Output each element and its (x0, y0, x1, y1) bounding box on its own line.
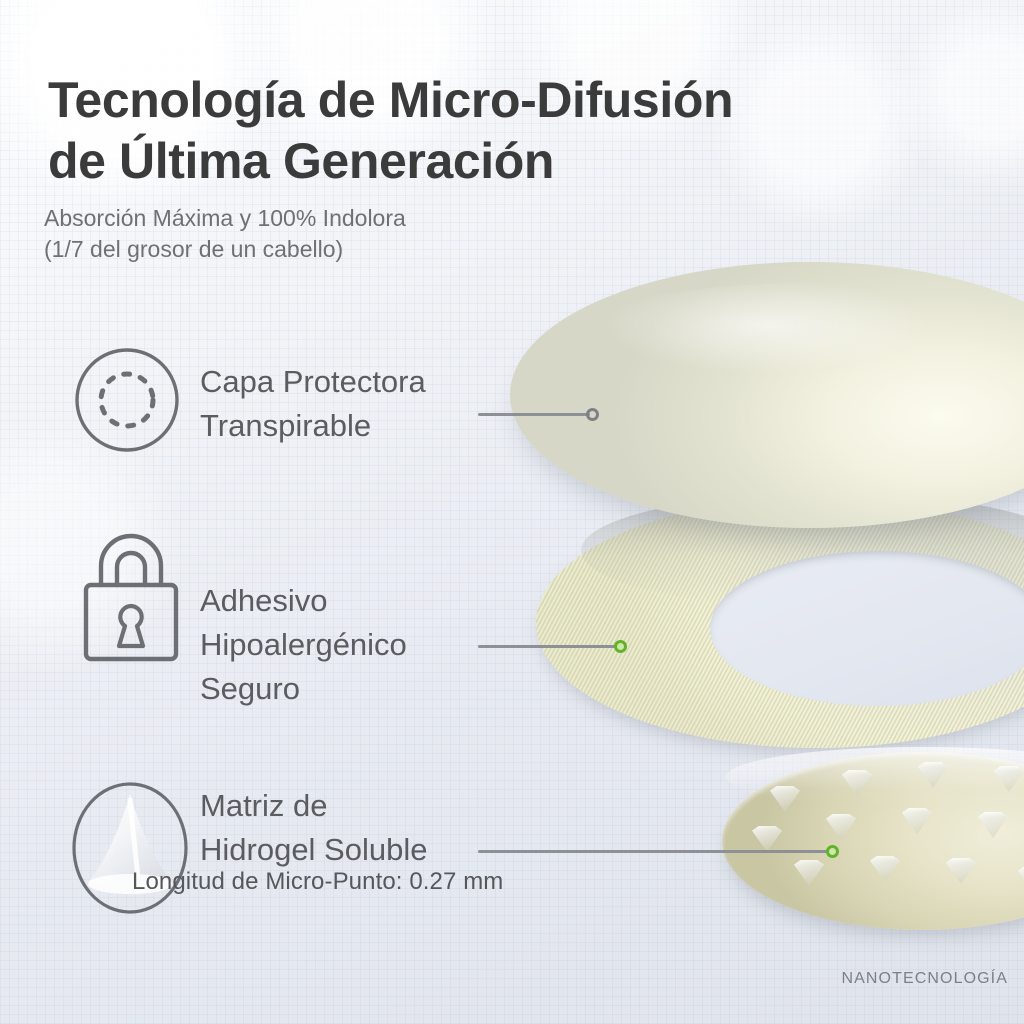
title-line-2: de Última Generación (48, 131, 878, 192)
page-title: Tecnología de Micro-Difusión de Última G… (48, 70, 878, 192)
feature-label-line-2: Hipoalergénico (200, 623, 407, 667)
feature-label-line-2: Transpirable (200, 404, 426, 448)
leader-marker-capa-protectora (586, 408, 599, 421)
breathable-dashed-circle-icon (73, 346, 181, 454)
micro-punto-length-detail: Longitud de Micro-Punto: 0.27 mm (132, 868, 503, 896)
adhesive-ring-hole (710, 551, 1024, 706)
feature-adhesivo-hipoalergenico[interactable]: Adhesivo Hipoalergénico Seguro (75, 533, 505, 673)
feature-label-line-1: Capa Protectora (200, 360, 426, 404)
feature-capa-protectora[interactable]: Capa Protectora Transpirable (73, 346, 493, 456)
feature-label-line-1: Adhesivo (200, 579, 407, 623)
feature-label-line-1: Matriz de (200, 784, 427, 828)
infographic-canvas: Tecnología de Micro-Difusión de Última G… (0, 0, 1024, 1024)
title-line-1: Tecnología de Micro-Difusión (48, 70, 878, 131)
feature-label-line-2: Hidrogel Soluble (200, 828, 427, 872)
leader-marker-hidrogel (826, 845, 839, 858)
padlock-icon (75, 533, 187, 665)
capa-protectora-disc (510, 262, 1024, 528)
adhesivo-ring (536, 498, 1024, 748)
hidrogel-microneedle-disc (722, 752, 1024, 930)
nanotecnologia-caption: NANOTECNOLOGÍA (841, 970, 1008, 988)
page-subtitle: Absorción Máxima y 100% Indolora (1/7 de… (44, 203, 664, 266)
subtitle-line-1: Absorción Máxima y 100% Indolora (44, 203, 664, 234)
leader-marker-adhesivo (614, 640, 627, 653)
feature-label-capa-protectora: Capa Protectora Transpirable (200, 360, 426, 448)
feature-label-line-3: Seguro (200, 667, 407, 711)
leader-line-capa-protectora (478, 413, 590, 416)
subtitle-line-2: (1/7 del grosor de un cabello) (44, 234, 664, 265)
feature-label-matriz-hidrogel: Matriz de Hidrogel Soluble (200, 784, 427, 872)
microneedle-cone-icon (68, 778, 192, 918)
feature-label-adhesivo: Adhesivo Hipoalergénico Seguro (200, 579, 407, 711)
